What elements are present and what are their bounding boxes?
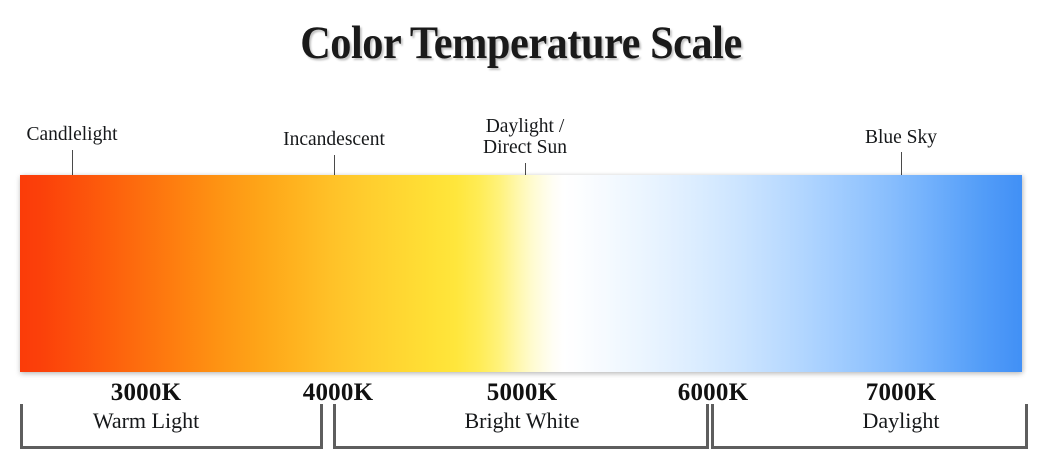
callout-label-incandescent: Incandescent bbox=[283, 129, 385, 150]
group-name-label: Bright White bbox=[464, 408, 579, 433]
callout-label-text: Blue Sky bbox=[865, 127, 937, 148]
temperature-group-daylight: 7000KDaylight bbox=[863, 379, 940, 433]
kelvin-marker-4000k: 4000K bbox=[303, 379, 373, 406]
callout-label-text-line2: Direct Sun bbox=[483, 137, 567, 158]
temperature-group-bright-white: 5000KBright White bbox=[464, 379, 579, 433]
page-title: Color Temperature Scale bbox=[52, 18, 990, 69]
kelvin-marker-6000k: 6000K bbox=[678, 379, 748, 406]
callout-label-text: Candlelight bbox=[27, 124, 118, 145]
group-name-label: Warm Light bbox=[93, 408, 199, 433]
callout-label-text: Incandescent bbox=[283, 129, 385, 150]
callout-tick-bluesky bbox=[901, 152, 902, 175]
callout-tick-incandescent bbox=[334, 155, 335, 175]
callout-label-bluesky: Blue Sky bbox=[865, 127, 937, 148]
callout-label-candlelight: Candlelight bbox=[27, 124, 118, 145]
group-name-label: Daylight bbox=[863, 408, 940, 433]
color-temperature-infographic: Color Temperature Scale CandlelightIncan… bbox=[0, 0, 1042, 468]
callout-label-daylight: Daylight /Direct Sun bbox=[483, 116, 567, 158]
temperature-group-warm-light: 3000KWarm Light bbox=[93, 379, 199, 433]
callout-tick-candlelight bbox=[72, 150, 73, 175]
color-temperature-gradient-bar bbox=[20, 175, 1022, 372]
kelvin-value: 7000K bbox=[863, 379, 940, 406]
kelvin-value: 3000K bbox=[93, 379, 199, 406]
kelvin-value: 5000K bbox=[464, 379, 579, 406]
callout-label-text: Daylight / bbox=[486, 116, 565, 137]
callout-tick-daylight bbox=[525, 163, 526, 175]
